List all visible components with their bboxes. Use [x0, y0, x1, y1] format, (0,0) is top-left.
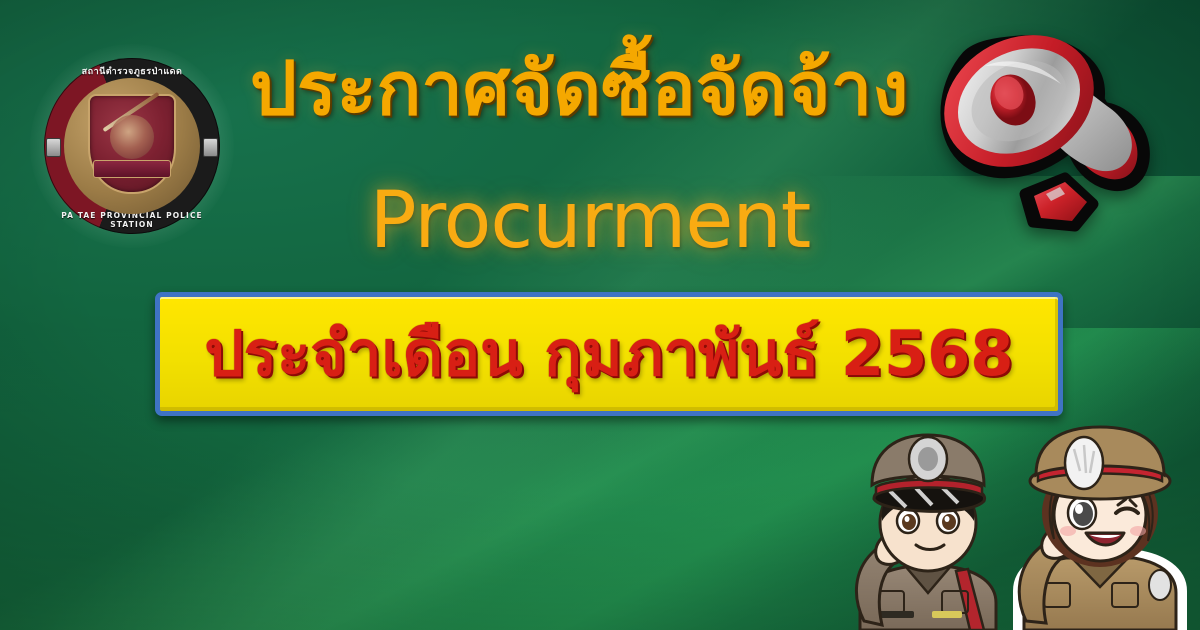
procurement-announcement-poster: สถานีตำรวจภูธรป่าแดด PA TAE PROVINCIAL P…	[0, 0, 1200, 630]
headline-thai: ประกาศจัดซื้อจัดจ้าง	[250, 52, 930, 126]
logo-pip-left	[46, 138, 61, 157]
police-station-logo: สถานีตำรวจภูธรป่าแดด PA TAE PROVINCIAL P…	[44, 58, 220, 234]
logo-ribbon	[93, 160, 171, 178]
female-police-officer-saluting	[1000, 415, 1200, 630]
headline-english: Procurment	[250, 182, 930, 260]
month-banner-text: ประจำเดือน กุมภาพันธ์ 2568	[204, 323, 1013, 385]
logo-shield-core	[110, 115, 154, 159]
month-banner: ประจำเดือน กุมภาพันธ์ 2568	[155, 292, 1063, 416]
megaphone-icon	[915, 8, 1195, 253]
logo-shield-icon	[88, 94, 176, 194]
logo-pip-right	[203, 138, 218, 157]
